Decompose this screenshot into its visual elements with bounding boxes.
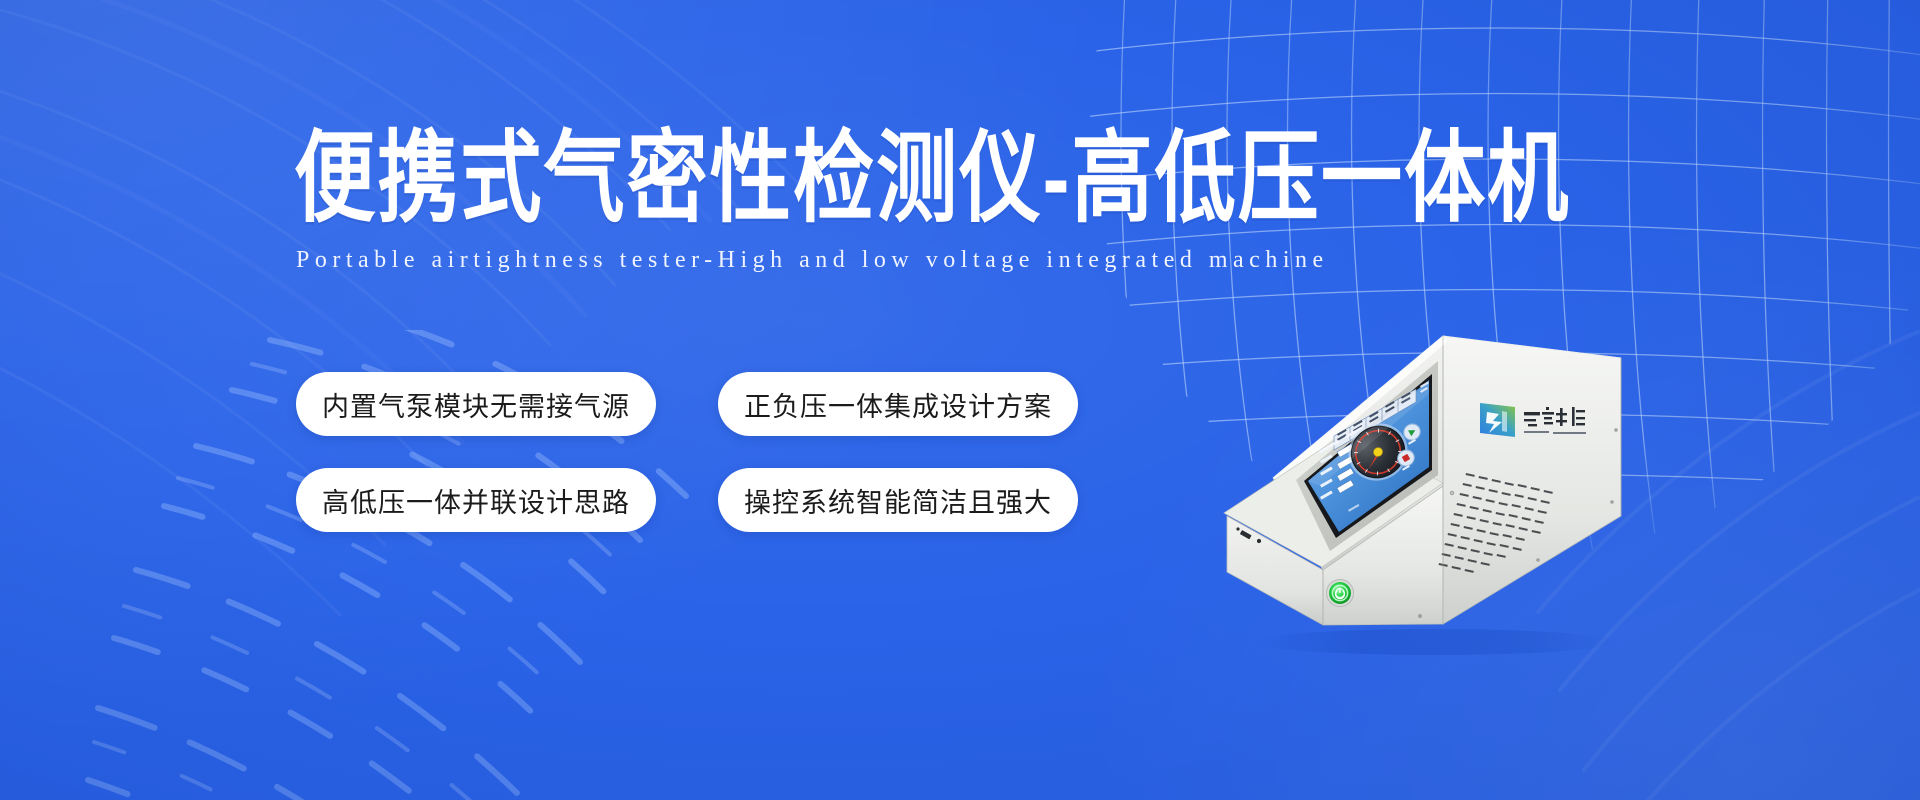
feature-pill[interactable]: 高低压一体并联设计思路 — [296, 468, 656, 532]
promo-banner: 便携式气密性检测仪-高低压一体机 Portable airtightness t… — [0, 0, 1920, 800]
feature-pill[interactable]: 操控系统智能简洁且强大 — [718, 468, 1078, 532]
feature-pill-list: 内置气泵模块无需接气源 正负压一体集成设计方案 高低压一体并联设计思路 操控系统… — [296, 372, 1078, 532]
banner-content: 便携式气密性检测仪-高低压一体机 Portable airtightness t… — [0, 0, 1920, 800]
banner-subtitle: Portable airtightness tester-High and lo… — [296, 247, 1329, 274]
banner-title: 便携式气密性检测仪-高低压一体机 — [294, 126, 1621, 233]
product-device-image — [1180, 320, 1650, 660]
power-button[interactable] — [1327, 580, 1354, 607]
feature-pill[interactable]: 正负压一体集成设计方案 — [718, 372, 1078, 436]
feature-pill[interactable]: 内置气泵模块无需接气源 — [296, 372, 656, 436]
device-shadow — [1255, 629, 1615, 655]
